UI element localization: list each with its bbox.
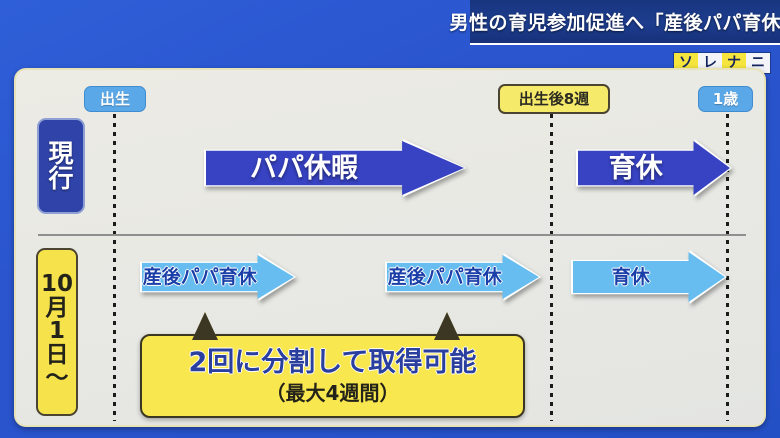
- row-label-new-system-char-1: 10: [41, 273, 73, 296]
- title-text: 男性の育児参加促進へ「産後パパ育休」: [450, 8, 780, 35]
- row-label-current-system-char-2: 行: [48, 166, 73, 192]
- row-label-new-system-char-5: 〜: [46, 367, 69, 390]
- timeline-guide-8-weeks: [550, 96, 553, 421]
- arrow-papa-leave: パパ休暇: [206, 141, 464, 195]
- timeline-label-birth: 出生: [84, 86, 146, 112]
- row-label-new-system-char-2: 月: [46, 297, 69, 320]
- row-label-current-system-char-1: 現: [48, 141, 73, 167]
- callout-pointer-right: [436, 312, 458, 336]
- arrow-postnatal-papa-leave-1: 産後パパ育休: [142, 255, 294, 299]
- timeline-guide-birth: [113, 96, 116, 421]
- arrow-papa-leave-label: パパ休暇: [206, 155, 402, 182]
- timeline-label-8-weeks: 出生後8週: [498, 84, 610, 114]
- callout-box: 2回に分割して取得可能 （最大4週間）: [140, 334, 525, 418]
- callout-sub-text: （最大4週間）: [266, 383, 400, 403]
- row-label-current-system: 現 行: [37, 118, 85, 214]
- callout-main-text: 2回に分割して取得可能: [189, 349, 477, 376]
- arrow-childcare-leave-new: 育休: [573, 252, 725, 302]
- arrow-postnatal-papa-leave-1-label: 産後パパ育休: [142, 268, 258, 287]
- row-label-new-system-char-3: 1: [49, 320, 65, 343]
- tv-news-graphic: 男性の育児参加促進へ「産後パパ育休」 ソ レ ナ ニ 出生 出生後8週 1歳 現…: [0, 0, 780, 438]
- title-banner: 男性の育児参加促進へ「産後パパ育休」: [470, 0, 780, 45]
- arrow-childcare-leave-current: 育休: [578, 141, 730, 195]
- row-label-new-system: 10 月 1 日 〜: [36, 248, 78, 416]
- row-divider: [38, 234, 746, 236]
- arrow-childcare-leave-current-label: 育休: [578, 155, 694, 182]
- callout-pointer-left: [194, 312, 216, 336]
- row-label-new-system-char-4: 日: [46, 344, 69, 367]
- arrow-postnatal-papa-leave-2-label: 産後パパ育休: [387, 268, 503, 287]
- arrow-postnatal-papa-leave-2: 産後パパ育休: [387, 255, 539, 299]
- timeline-label-1-year: 1歳: [698, 86, 753, 112]
- arrow-childcare-leave-new-label: 育休: [573, 268, 689, 287]
